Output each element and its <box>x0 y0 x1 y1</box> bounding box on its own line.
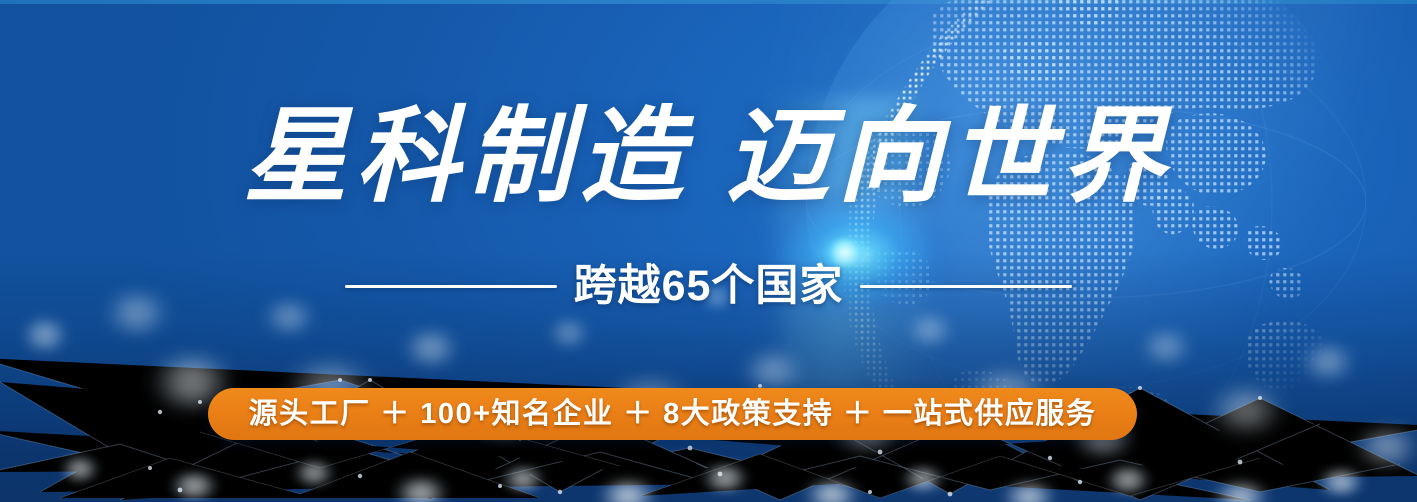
tagline-text: 源头工厂 ＋ 100+知名企业 ＋ 8大政策支持 ＋ 一站式供应服务 <box>249 400 1097 429</box>
page-title: 星科制造迈向世界 <box>0 96 1417 217</box>
divider-left <box>345 285 557 288</box>
subtitle-text: 跨越65个国家 <box>574 265 844 308</box>
banner-content: 星科制造迈向世界 跨越65个国家 源头工厂 ＋ 100+知名企业 ＋ 8大政策支… <box>0 0 1417 502</box>
marketing-banner: 星科制造迈向世界 跨越65个国家 源头工厂 ＋ 100+知名企业 ＋ 8大政策支… <box>0 0 1417 502</box>
divider-right <box>860 285 1072 288</box>
subtitle-row: 跨越65个国家 <box>0 265 1417 308</box>
headline-part-2: 迈向世界 <box>726 94 1174 217</box>
headline-part-1: 星科制造 <box>243 94 691 217</box>
tagline-pill[interactable]: 源头工厂 ＋ 100+知名企业 ＋ 8大政策支持 ＋ 一站式供应服务 <box>208 388 1137 440</box>
